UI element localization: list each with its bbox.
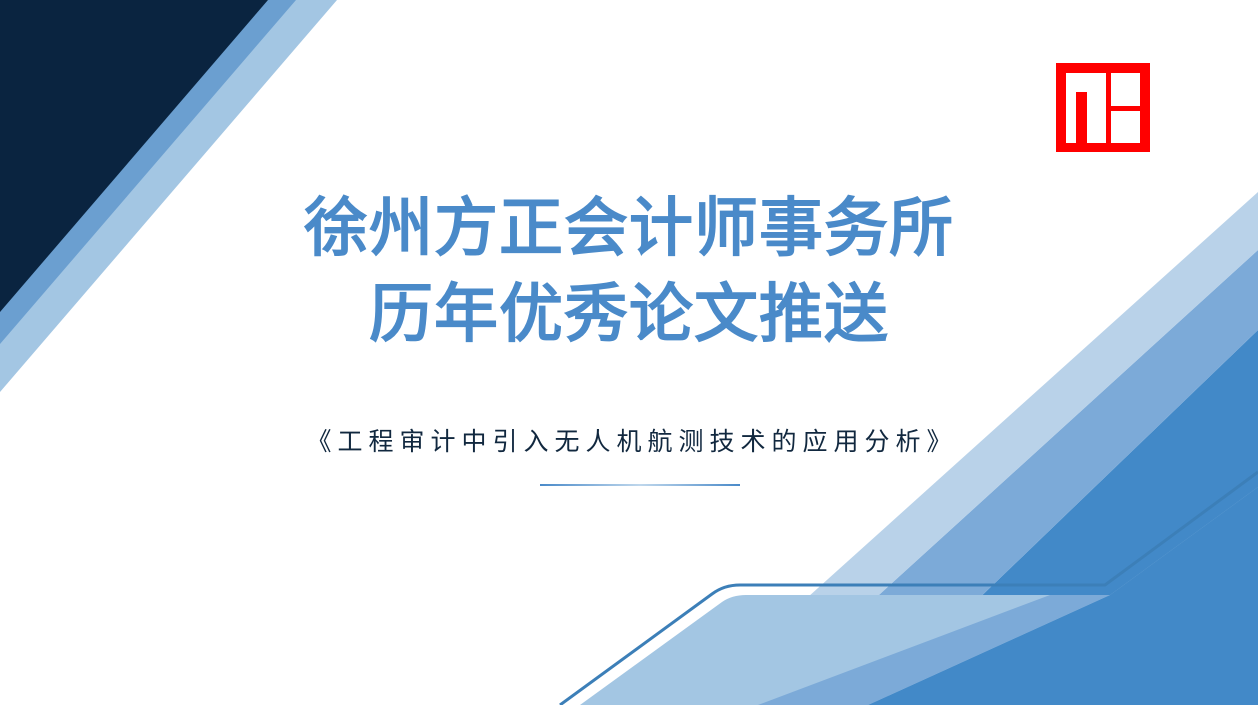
- title-line-2: 历年优秀论文推送: [0, 272, 1258, 358]
- logo-inner-stem: [1076, 92, 1087, 143]
- logo-cutout-top-right: [1111, 73, 1140, 106]
- title-line-1: 徐州方正会计师事务所: [0, 186, 1258, 272]
- bottom-right-accent-wedge: [868, 330, 1258, 705]
- paper-subtitle: 《工程审计中引入无人机航测技术的应用分析》: [0, 425, 1258, 459]
- bottom-band-right-midshade: [758, 595, 1110, 705]
- fangzheng-logo-icon: [1056, 63, 1150, 152]
- bottom-light-blue-band: [580, 487, 1258, 705]
- title-block: 徐州方正会计师事务所 历年优秀论文推送: [0, 186, 1258, 358]
- logo-cutout-bottom-right: [1111, 111, 1140, 143]
- bottom-band-right-shade: [868, 487, 1258, 705]
- slide-canvas: 徐州方正会计师事务所 历年优秀论文推送 《工程审计中引入无人机航测技术的应用分析…: [0, 0, 1258, 705]
- title-divider-line: [540, 484, 740, 486]
- bottom-band-outline-stroke: [560, 472, 1258, 705]
